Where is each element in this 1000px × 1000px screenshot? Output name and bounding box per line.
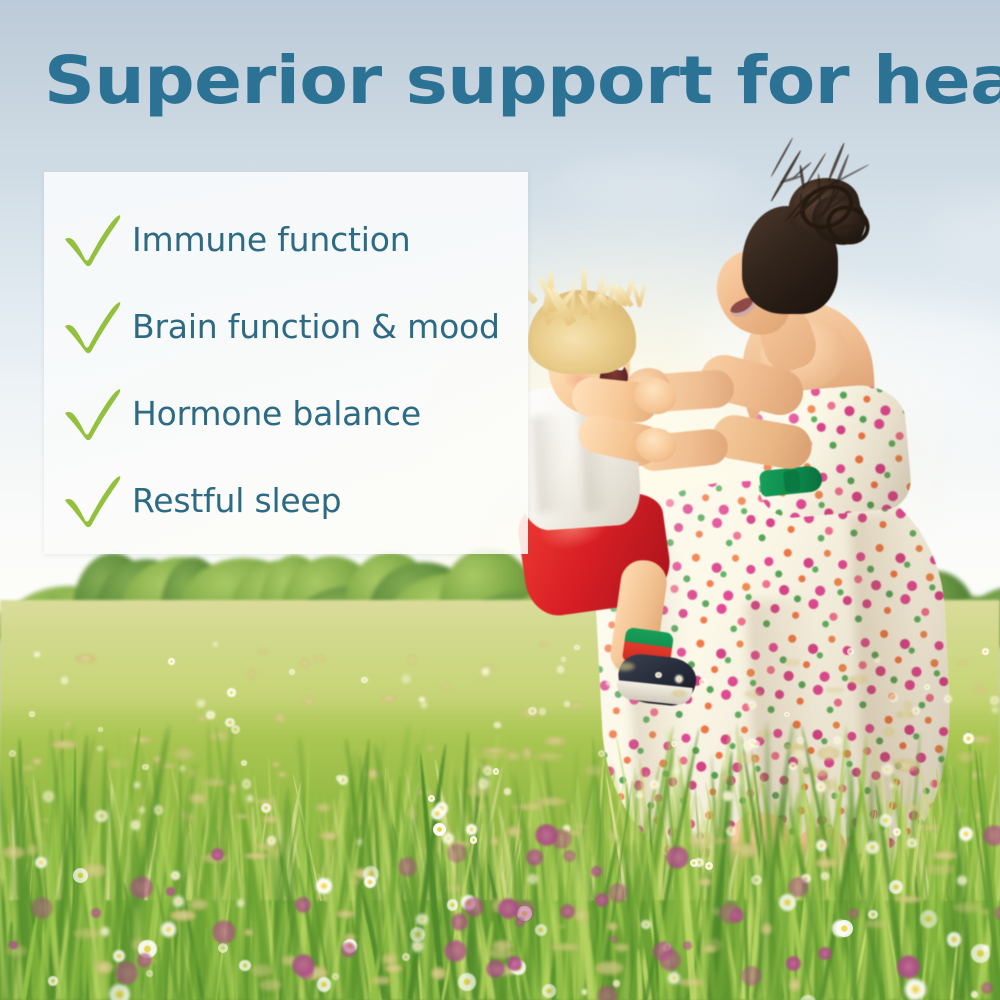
daisy-flower	[237, 899, 245, 907]
daisy-flower	[447, 899, 459, 911]
clover-flower	[786, 956, 801, 971]
check-icon	[62, 385, 124, 443]
clover-flower	[591, 866, 602, 877]
clover-flower	[398, 857, 418, 877]
clover-flower	[666, 846, 689, 869]
marketing-image: Superior support for health Immune funct…	[0, 0, 1000, 1000]
benefit-item: Restful sleep	[44, 457, 528, 544]
daisy-flower	[816, 782, 826, 792]
daisy-flower	[357, 839, 362, 844]
daisy-flower	[218, 943, 228, 953]
daisy-flower	[924, 684, 930, 690]
daisy-flower	[673, 768, 680, 775]
daisy-flower	[905, 979, 926, 1000]
clover-flower	[535, 824, 558, 847]
benefits-list: Immune functionBrain function & moodHorm…	[44, 172, 528, 544]
daisy-flower	[9, 750, 16, 757]
clover-flower	[9, 941, 18, 950]
daisy-flower	[428, 795, 435, 802]
clover-flower	[486, 960, 505, 979]
daisy-flower	[784, 712, 789, 717]
check-icon	[62, 298, 124, 356]
clover-flower	[115, 961, 139, 985]
daisy-flower	[458, 973, 476, 991]
benefits-card: Immune functionBrain function & moodHorm…	[44, 172, 528, 554]
daisy-flower	[982, 648, 989, 655]
daisy-flower	[751, 875, 761, 885]
daisy-flower	[561, 657, 566, 662]
daisy-flower	[655, 672, 661, 678]
daisy-flower	[35, 857, 46, 868]
daisy-flower	[206, 711, 214, 719]
daisy-flower	[95, 810, 107, 822]
check-icon	[62, 472, 124, 530]
daisy-flower	[748, 701, 756, 709]
daisy-flower	[61, 677, 68, 684]
daisy-flower	[494, 722, 500, 728]
daisy-flower	[866, 841, 879, 854]
daisy-flower	[239, 960, 251, 972]
clover-flower	[526, 849, 543, 866]
daisy-flower	[797, 737, 804, 744]
daisy-flower	[317, 977, 331, 991]
daisy-flower	[227, 688, 236, 697]
daisy-flower	[636, 792, 642, 798]
daisy-flower	[868, 910, 877, 919]
clover-flower	[981, 982, 993, 994]
clover-flower	[788, 877, 808, 897]
clover-flower	[464, 897, 484, 917]
clover-flower	[741, 966, 762, 987]
daisy-flower	[821, 872, 829, 880]
benefit-label: Immune function	[132, 220, 410, 259]
daisy-flower	[836, 920, 853, 937]
daisy-flower	[142, 764, 148, 770]
clover-flower	[610, 935, 618, 943]
daisy-flower	[416, 914, 428, 926]
clover-flower	[719, 902, 741, 924]
daisy-flower	[920, 910, 938, 928]
daisy-flower	[113, 950, 125, 962]
daisy-flower	[242, 779, 251, 788]
daisy-flower	[907, 838, 916, 847]
daisy-flower	[483, 766, 492, 775]
check-icon	[62, 211, 124, 269]
daisy-flower	[443, 833, 454, 844]
clover-flower	[507, 956, 521, 970]
clover-flower	[137, 953, 152, 968]
clover-flower	[818, 947, 832, 961]
clover-flower	[595, 893, 609, 907]
woman-bow-knot	[783, 469, 801, 493]
daisy-flower	[482, 668, 488, 674]
clover-flower	[597, 985, 618, 1000]
daisy-flower	[332, 973, 339, 980]
daisy-flower	[675, 675, 683, 683]
benefit-label: Restful sleep	[132, 481, 341, 520]
benefit-item: Hormone balance	[44, 370, 528, 457]
daisy-flower	[131, 820, 141, 830]
daisy-flower	[109, 984, 130, 1000]
daisy-flower	[134, 782, 139, 787]
clover-flower	[994, 906, 1000, 919]
clover-flower	[983, 825, 1000, 847]
daisy-flower	[834, 737, 841, 744]
daisy-flower	[890, 783, 895, 788]
daisy-flower	[48, 976, 57, 985]
benefit-label: Brain function & mood	[132, 307, 500, 346]
clover-flower	[166, 887, 175, 896]
clover-flower	[560, 904, 575, 919]
daisy-flower	[197, 700, 205, 708]
daisy-flower	[402, 675, 409, 682]
clover-flower	[498, 898, 519, 919]
daisy-flower	[963, 733, 973, 743]
daisy-flower	[412, 941, 423, 952]
daisy-flower	[690, 859, 698, 867]
daisy-flower	[557, 666, 564, 673]
daisy-flower	[470, 836, 477, 843]
page-title: Superior support for health	[44, 48, 1000, 114]
daisy-flower	[410, 927, 425, 942]
clover-flower	[295, 897, 310, 912]
daisy-flower	[168, 658, 175, 665]
daisy-flower	[101, 927, 109, 935]
clover-flower	[897, 955, 921, 979]
daisy-flower	[316, 878, 332, 894]
daisy-flower	[43, 791, 54, 802]
daisy-flower	[29, 711, 34, 716]
daisy-flower	[171, 871, 180, 880]
daisy-flower	[528, 874, 538, 884]
daisy-flower	[957, 876, 966, 885]
benefit-item: Brain function & mood	[44, 283, 528, 370]
daisy-flower	[338, 775, 348, 785]
daisy-flower	[816, 840, 827, 851]
benefit-item: Immune function	[44, 196, 528, 283]
daisy-flower	[180, 766, 185, 771]
daisy-flower	[971, 991, 978, 998]
daisy-flower	[139, 807, 145, 813]
daisy-flower	[173, 896, 184, 907]
clover-flower	[563, 850, 575, 862]
daisy-flower	[574, 645, 580, 651]
daisy-flower	[971, 944, 990, 963]
hair-wisp	[800, 194, 803, 218]
daisy-flower	[73, 868, 88, 883]
benefit-label: Hormone balance	[132, 394, 421, 433]
daisy-flower	[247, 795, 253, 801]
daisy-flower	[795, 750, 802, 757]
shirt-fold	[531, 415, 568, 513]
clover-flower	[444, 940, 467, 963]
clover-flower	[292, 954, 315, 977]
daisy-flower	[944, 695, 952, 703]
daisy-flower	[97, 746, 103, 752]
daisy-flower	[947, 932, 962, 947]
daisy-flower	[431, 807, 444, 820]
daisy-flower	[893, 828, 901, 836]
clover-flower	[515, 917, 525, 927]
daisy-flower	[539, 708, 545, 714]
daisy-flower	[542, 984, 556, 998]
daisy-flower	[889, 693, 898, 702]
